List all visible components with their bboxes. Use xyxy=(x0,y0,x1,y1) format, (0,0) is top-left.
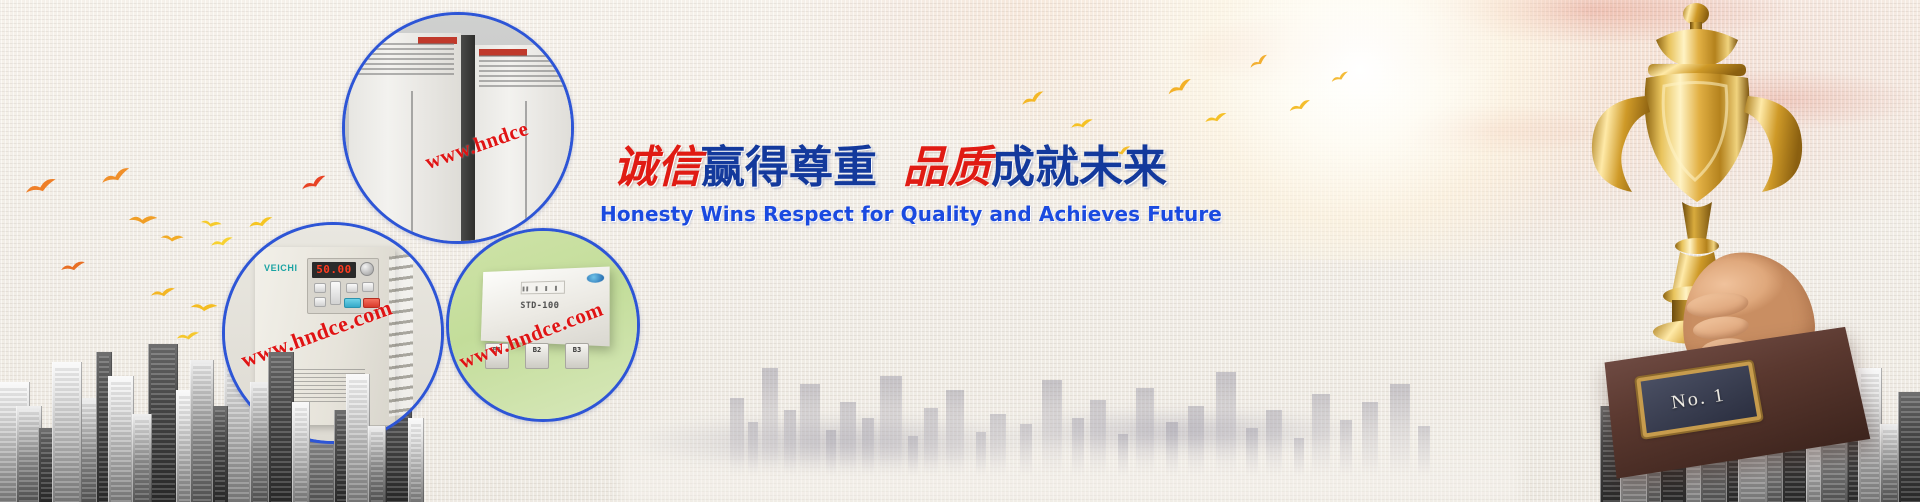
inverter-key-4 xyxy=(362,282,374,292)
bird-icon xyxy=(149,285,176,301)
std-terminal-row: B1 B2 B3 xyxy=(479,343,611,375)
inverter-key-1 xyxy=(314,283,326,293)
inverter-key-3 xyxy=(346,283,358,293)
inverter-heatsink xyxy=(389,253,413,416)
std-logo-icon xyxy=(587,273,604,283)
trophy-plaque-text: No. 1 xyxy=(1641,365,1757,433)
product-image-control-cabinets[interactable]: www.hndce xyxy=(342,12,574,244)
building xyxy=(212,406,228,502)
slogan-cn-blue-2: 成就未来 xyxy=(991,142,1167,193)
slogan-cn-blue-1: 赢得尊重 xyxy=(701,142,877,193)
building xyxy=(292,402,310,502)
cabinet-seam-2 xyxy=(525,101,527,244)
cabinet-right xyxy=(473,45,574,244)
finger-2 xyxy=(1692,314,1750,342)
building xyxy=(250,382,270,502)
std-terminal-b1: B1 xyxy=(485,343,509,369)
trophy-illustration: No. 1 xyxy=(1450,0,1920,502)
inverter-key-stop xyxy=(363,298,380,308)
std-indicator-row xyxy=(521,281,565,295)
bird-icon xyxy=(127,210,158,229)
slogan-block: 诚信赢得尊重品质成就未来 Honesty Wins Respect for Qu… xyxy=(600,146,1180,226)
building xyxy=(132,414,152,502)
cabinet-seam xyxy=(411,91,413,243)
slogan-chinese: 诚信赢得尊重品质成就未来 xyxy=(600,146,1180,191)
building xyxy=(108,376,134,502)
building xyxy=(52,362,82,502)
building xyxy=(268,352,294,502)
inverter-brand-label: VEICHI xyxy=(264,263,298,273)
slogan-english: Honesty Wins Respect for Quality and Ach… xyxy=(600,202,1180,226)
std-model-label: STD-100 xyxy=(520,301,559,311)
cabinet-vent xyxy=(356,43,455,77)
inverter-knob xyxy=(360,262,374,276)
bird-icon xyxy=(176,329,201,343)
cabinet-vent-2 xyxy=(479,55,571,89)
building xyxy=(408,418,424,502)
inverter-key-updown xyxy=(330,281,341,305)
cabinet-left xyxy=(349,33,461,243)
inverter-display: 50.00 xyxy=(312,262,356,278)
building xyxy=(190,360,214,502)
finger-1 xyxy=(1685,290,1749,320)
building xyxy=(346,374,370,502)
product-image-std-controller[interactable]: STD-100 B1 B2 B3 www.hndce.com xyxy=(446,228,640,422)
fog-haze xyxy=(620,382,1520,502)
slogan-cn-red-2: 品质 xyxy=(903,142,991,193)
std-terminal-b2: B2 xyxy=(525,343,549,369)
inverter-key-2 xyxy=(314,297,326,307)
promo-banner: www.hndce VEICHI 50.00 xyxy=(0,0,1920,502)
building xyxy=(148,344,178,502)
inverter-key-fwd xyxy=(344,298,361,308)
building xyxy=(368,426,386,502)
std-terminal-b3: B3 xyxy=(565,343,589,369)
trophy-plaque: No. 1 xyxy=(1636,361,1761,438)
inverter-keypad: 50.00 xyxy=(307,258,379,314)
std-photo: STD-100 B1 B2 B3 xyxy=(449,231,637,419)
cabinet-photo xyxy=(345,15,571,241)
std-box-body: STD-100 xyxy=(481,267,610,347)
cabinet-gap xyxy=(461,35,475,244)
slogan-cn-red-1: 诚信 xyxy=(613,142,701,193)
